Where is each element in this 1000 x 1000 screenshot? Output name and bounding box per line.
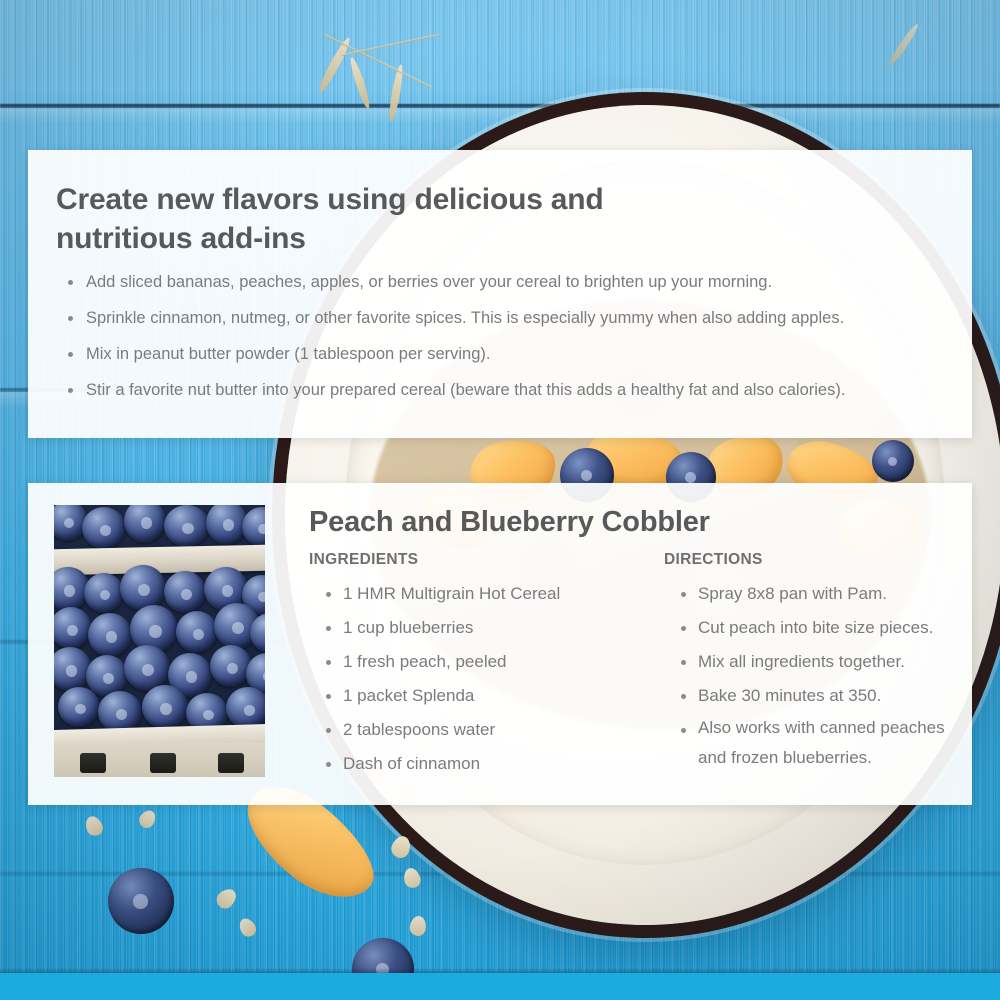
directions-list: Spray 8x8 pan with Pam. Cut peach into b… [664, 577, 946, 773]
blueberry [176, 611, 218, 653]
recipe-text-block: Peach and Blueberry Cobbler INGREDIENTS … [265, 505, 946, 805]
list-item: 2 tablespoons water [343, 713, 664, 747]
list-item: Add sliced bananas, peaches, apples, or … [86, 272, 938, 292]
list-item: Dash of cinnamon [343, 747, 664, 781]
carton-vent-hole [80, 753, 106, 773]
list-item: 1 packet Splenda [343, 679, 664, 713]
carton-vent-hole [218, 753, 244, 773]
ingredients-heading: INGREDIENTS [309, 551, 664, 569]
list-item: Spray 8x8 pan with Pam. [698, 577, 946, 611]
blueberry [88, 613, 132, 657]
list-item: Stir a favorite nut butter into your pre… [86, 380, 938, 400]
list-item: Mix in peanut butter powder (1 tablespoo… [86, 344, 938, 364]
list-item: Cut peach into bite size pieces. [698, 611, 946, 645]
blueberry [210, 645, 252, 687]
ingredients-column: INGREDIENTS 1 HMR Multigrain Hot Cereal … [309, 551, 664, 781]
directions-heading: DIRECTIONS [664, 551, 946, 569]
blueberry [58, 687, 100, 727]
list-item: Sprinkle cinnamon, nutmeg, or other favo… [86, 308, 938, 328]
list-item: 1 cup blueberries [343, 611, 664, 645]
carton-vent-hole [150, 753, 176, 773]
blueberry [84, 573, 124, 613]
ingredients-list: 1 HMR Multigrain Hot Cereal 1 cup bluebe… [309, 577, 664, 781]
blueberry [120, 565, 166, 611]
list-item: 1 fresh peach, peeled [343, 645, 664, 679]
list-item: Also works with canned peaches and froze… [698, 713, 946, 773]
tips-card: Create new flavors using delicious and n… [28, 150, 972, 438]
poster-canvas: Create new flavors using delicious and n… [0, 0, 1000, 1000]
recipe-title: Peach and Blueberry Cobbler [309, 505, 946, 539]
list-item: 1 HMR Multigrain Hot Cereal [343, 577, 664, 611]
blueberry [164, 571, 206, 613]
list-item: Bake 30 minutes at 350. [698, 679, 946, 713]
blueberry-carton-image [54, 505, 265, 777]
recipe-card: Peach and Blueberry Cobbler INGREDIENTS … [28, 483, 972, 805]
tips-list: Add sliced bananas, peaches, apples, or … [56, 272, 938, 400]
blueberry [142, 685, 188, 729]
blueberry [226, 687, 265, 729]
tips-title: Create new flavors using delicious and n… [56, 180, 696, 258]
list-item: Mix all ingredients together. [698, 645, 946, 679]
blueberry [82, 507, 126, 549]
blueberry [164, 505, 210, 547]
bottom-accent-bar [0, 973, 1000, 1000]
directions-column: DIRECTIONS Spray 8x8 pan with Pam. Cut p… [664, 551, 946, 781]
